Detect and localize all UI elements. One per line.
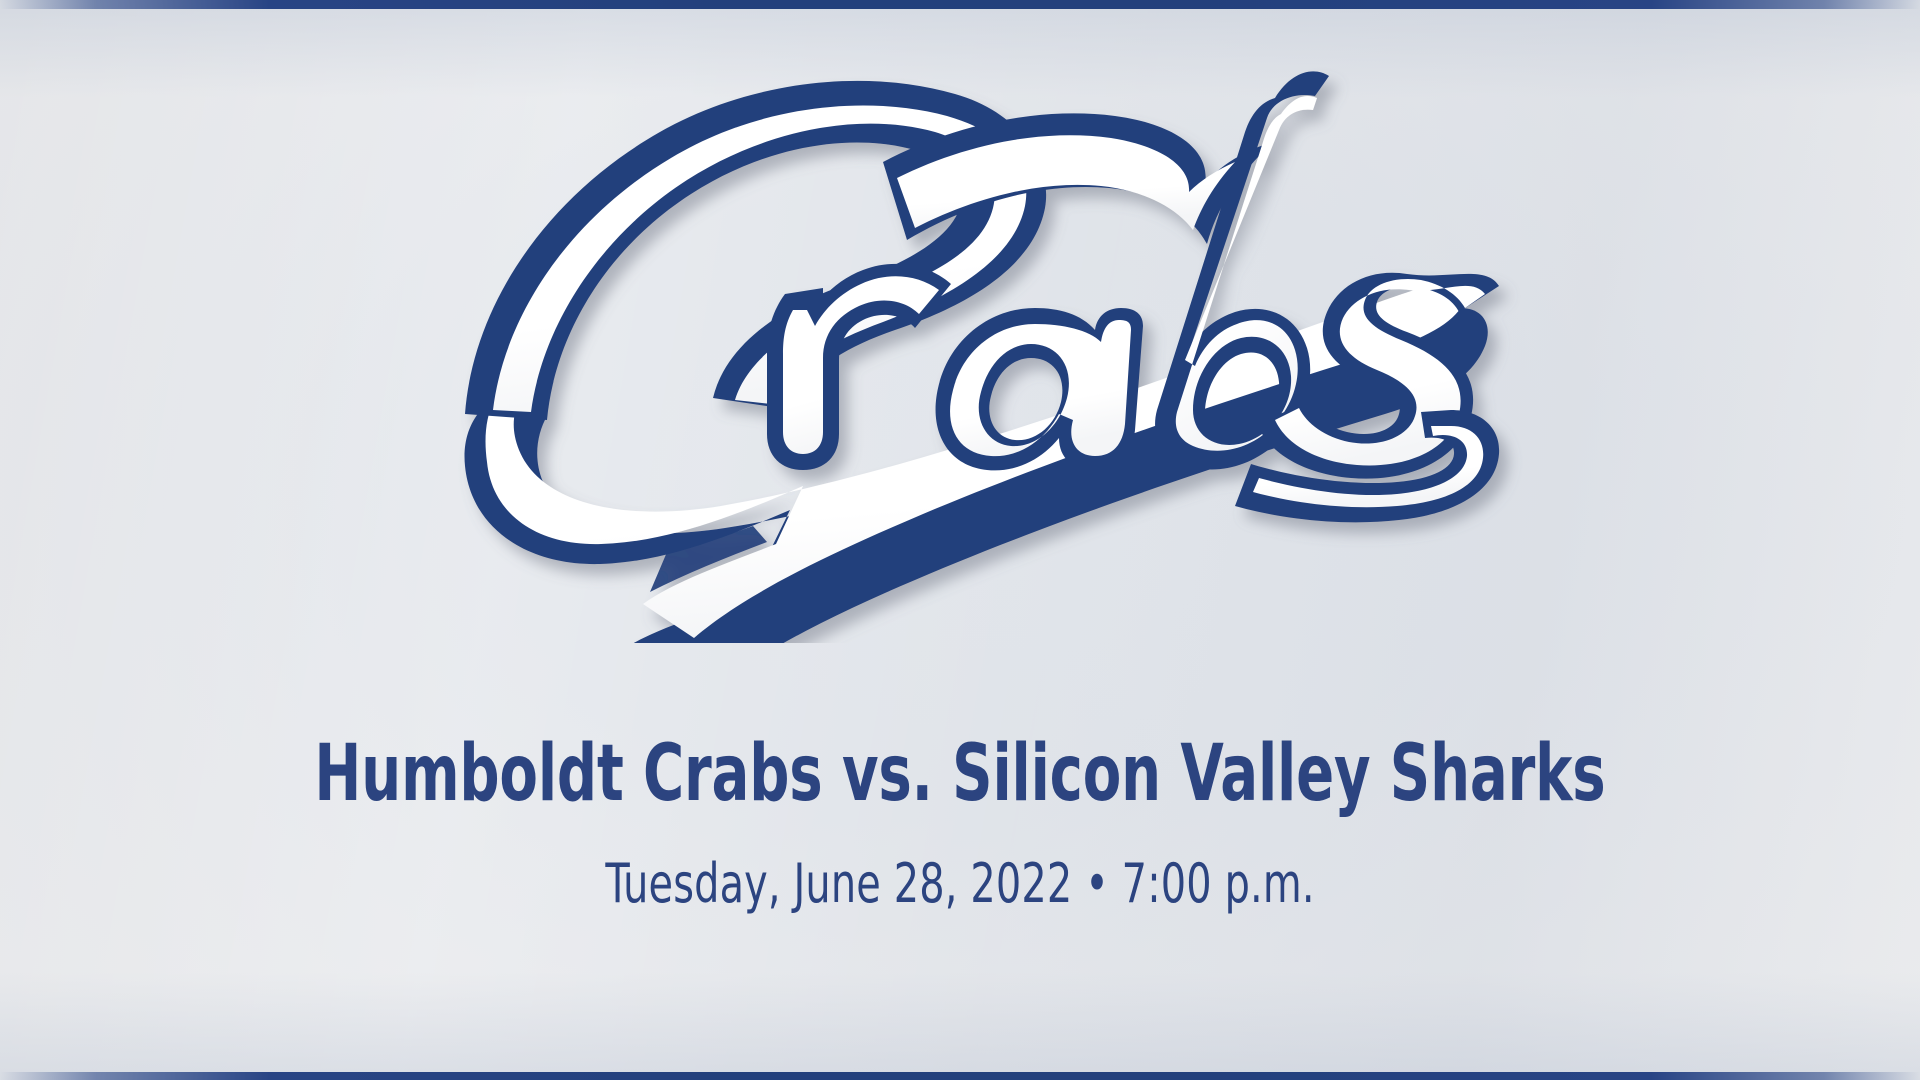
logo-letter-C xyxy=(465,81,1273,420)
matchup-title: Humboldt Crabs vs. Silicon Valley Sharks xyxy=(192,735,1728,813)
logo-letter-a xyxy=(936,308,1143,470)
game-datetime: Tuesday, June 28, 2022 • 7:00 p.m. xyxy=(173,813,1747,911)
top-accent-band xyxy=(0,0,1920,9)
humboldt-crabs-logo xyxy=(395,58,1525,643)
game-announcement-graphic: Humboldt Crabs vs. Silicon Valley Sharks… xyxy=(0,0,1920,1080)
event-text-block: Humboldt Crabs vs. Silicon Valley Sharks… xyxy=(0,735,1920,911)
logo-artwork xyxy=(465,71,1500,643)
bottom-accent-band xyxy=(0,1072,1920,1080)
logo-letter-r xyxy=(767,264,951,470)
